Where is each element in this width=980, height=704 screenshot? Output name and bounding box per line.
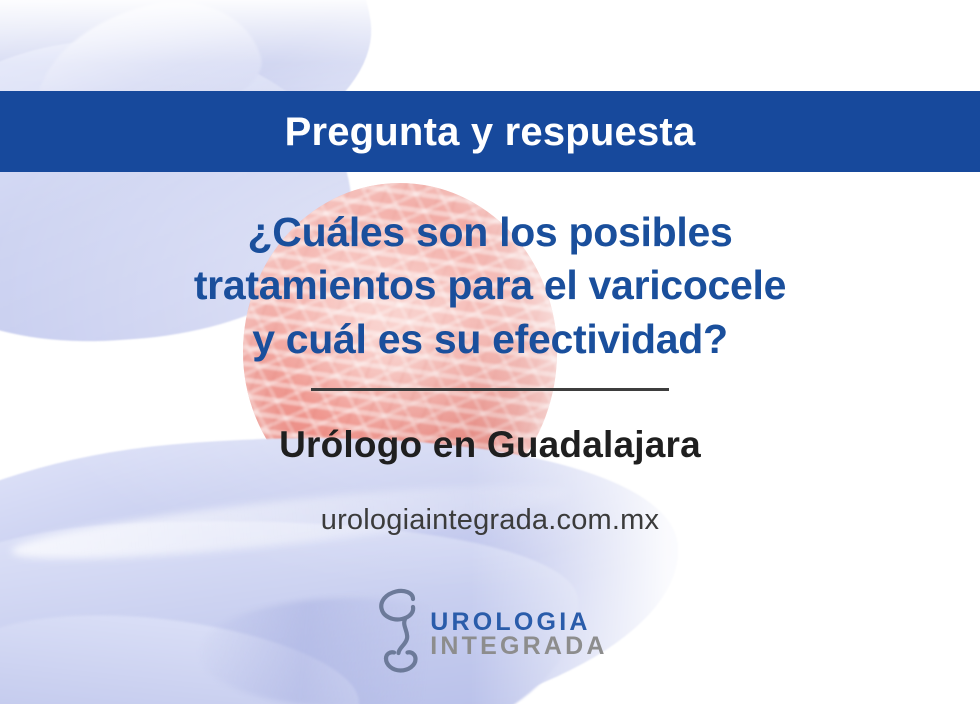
logo-line-urologia: UROLOGIA — [430, 610, 607, 635]
section-divider — [311, 388, 669, 391]
kidney-ureter-icon — [372, 588, 434, 674]
logo-wordmark: UROLOGIA INTEGRADA — [430, 610, 607, 659]
website-url: urologiaintegrada.com.mx — [0, 466, 980, 537]
subtitle-heading: Urólogo en Guadalajara — [0, 391, 980, 466]
content-block: ¿Cuáles son los posibles tratamientos pa… — [0, 172, 980, 537]
logo-line-integrada: INTEGRADA — [430, 634, 607, 659]
header-banner: Pregunta y respuesta — [0, 91, 980, 172]
poster-canvas: Pregunta y respuesta ¿Cuáles son los pos… — [0, 0, 980, 704]
brand-logo: UROLOGIA INTEGRADA — [0, 588, 980, 674]
question-heading: ¿Cuáles son los posibles tratamientos pa… — [0, 172, 980, 366]
banner-title: Pregunta y respuesta — [285, 112, 696, 152]
